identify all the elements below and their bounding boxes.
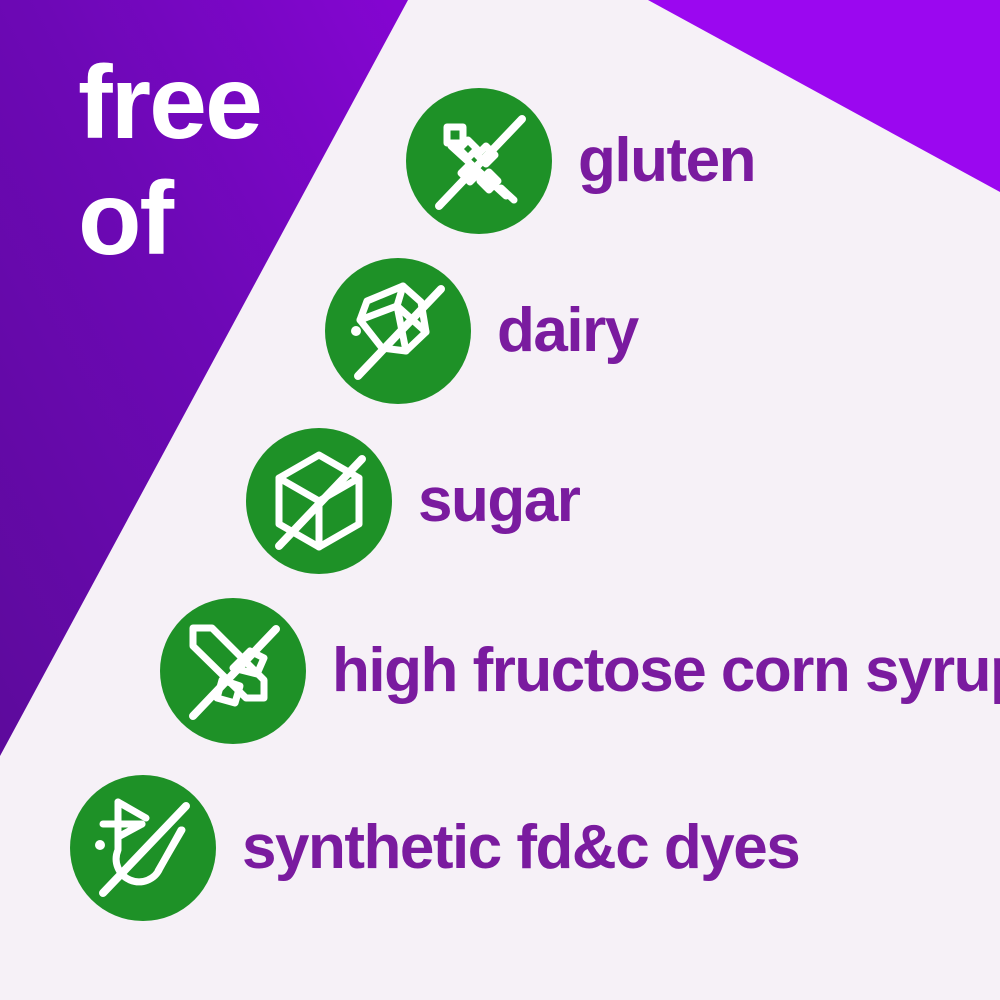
claim-label: synthetic fd&c dyes	[242, 817, 799, 879]
no-test-tube-icon	[70, 775, 216, 921]
claim-row: gluten	[406, 88, 755, 234]
headline-line-1: free	[78, 54, 261, 154]
no-corn-cob-icon	[160, 598, 306, 744]
no-wheat-icon	[406, 88, 552, 234]
no-milk-jug-icon	[325, 258, 471, 404]
free-of-poster: free of gluten	[0, 0, 1000, 1000]
claim-label: gluten	[578, 130, 755, 192]
no-sugar-cube-icon	[246, 428, 392, 574]
claim-row: dairy	[325, 258, 638, 404]
claim-label: dairy	[497, 300, 638, 362]
claim-label: sugar	[418, 470, 579, 532]
claim-row: synthetic fd&c dyes	[70, 775, 799, 921]
headline: free of	[78, 54, 261, 270]
claim-row: high fructose corn syrup	[160, 598, 1000, 744]
claim-label: high fructose corn syrup	[332, 640, 1000, 702]
claim-row: sugar	[246, 428, 579, 574]
headline-line-2: of	[78, 170, 261, 270]
